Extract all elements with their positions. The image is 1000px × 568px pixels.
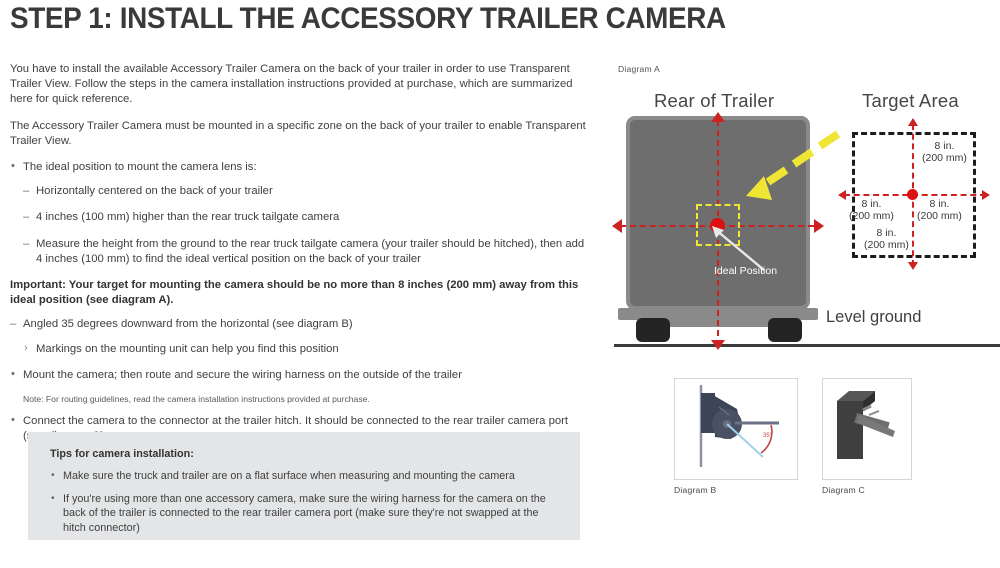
list-item: If you're using more than one accessory … [50, 492, 558, 536]
list-item: Measure the height from the ground to th… [23, 237, 590, 267]
list-item: Make sure the truck and trailer are on a… [50, 469, 558, 484]
target-arrow-right-icon [982, 190, 990, 200]
trailer-wheel-right [768, 318, 802, 342]
angle-sublist: Angled 35 degrees downward from the hori… [10, 317, 590, 356]
camera-mount-angle-illustration: 35° [675, 379, 795, 477]
routing-note: Note: For routing guidelines, read the c… [23, 393, 590, 405]
intro-paragraph-1: You have to install the available Access… [10, 62, 590, 108]
diagram-a-label: Diagram A [618, 64, 660, 74]
list-item: 4 inches (100 mm) higher than the rear t… [23, 210, 590, 225]
tips-callout-box: Tips for camera installation: Make sure … [28, 432, 580, 540]
list-item-label: Angled 35 degrees downward from the hori… [23, 318, 353, 330]
tips-title: Tips for camera installation: [50, 448, 558, 460]
instruction-list-continued: Mount the camera; then route and secure … [10, 368, 590, 383]
dimension-top: 8 in.(200 mm) [922, 140, 967, 164]
rear-of-trailer-heading: Rear of Trailer [654, 90, 774, 112]
ideal-position-label: Ideal Position [714, 265, 777, 277]
list-item-angle: Angled 35 degrees downward from the hori… [10, 317, 590, 356]
diagram-c-caption: Diagram C [822, 485, 865, 495]
arrow-left-icon [612, 219, 622, 233]
target-arrow-up-icon [908, 118, 918, 126]
target-arrow-down-icon [908, 262, 918, 270]
list-item: Horizontally centered on the back of you… [23, 184, 590, 199]
svg-text:35°: 35° [763, 433, 773, 439]
ground-line [614, 344, 1000, 347]
dimension-left: 8 in.(200 mm) [849, 198, 894, 222]
level-ground-label: Level ground [826, 308, 921, 327]
arrow-up-icon [711, 112, 725, 122]
camera-connector-illustration [823, 379, 909, 477]
list-item-ideal-position: The ideal position to mount the camera l… [10, 160, 590, 267]
yellow-pointer-arrow-icon [734, 130, 844, 210]
diagram-b-caption: Diagram B [674, 485, 716, 495]
arrow-down-icon [711, 340, 725, 350]
list-item-mount-camera: Mount the camera; then route and secure … [10, 368, 590, 383]
tips-list: Make sure the truck and trailer are on a… [50, 469, 558, 535]
target-area-heading: Target Area [862, 90, 959, 112]
dimension-bottom: 8 in.(200 mm) [864, 227, 909, 251]
markings-sublist: Markings on the mounting unit can help y… [23, 342, 590, 357]
document-page: STEP 1: INSTALL THE ACCESSORY TRAILER CA… [0, 0, 1000, 568]
diagram-c-thumbnail[interactable] [822, 378, 912, 480]
important-note: Important: Your target for mounting the … [10, 278, 590, 308]
list-item-label: The ideal position to mount the camera l… [23, 161, 257, 173]
trailer-wheel-left [636, 318, 670, 342]
instructions-column: You have to install the available Access… [10, 62, 590, 454]
intro-paragraph-2: The Accessory Trailer Camera must be mou… [10, 119, 590, 149]
dimension-right: 8 in.(200 mm) [917, 198, 962, 222]
list-item: Markings on the mounting unit can help y… [23, 342, 590, 357]
instruction-list: The ideal position to mount the camera l… [10, 160, 590, 267]
diagram-b-thumbnail[interactable]: 35° [674, 378, 798, 480]
target-arrow-left-icon [838, 190, 846, 200]
arrow-right-icon [814, 219, 824, 233]
diagram-column: Diagram A Rear of Trailer Target Area Le… [604, 0, 1000, 568]
ideal-position-sublist: Horizontally centered on the back of you… [23, 184, 590, 267]
